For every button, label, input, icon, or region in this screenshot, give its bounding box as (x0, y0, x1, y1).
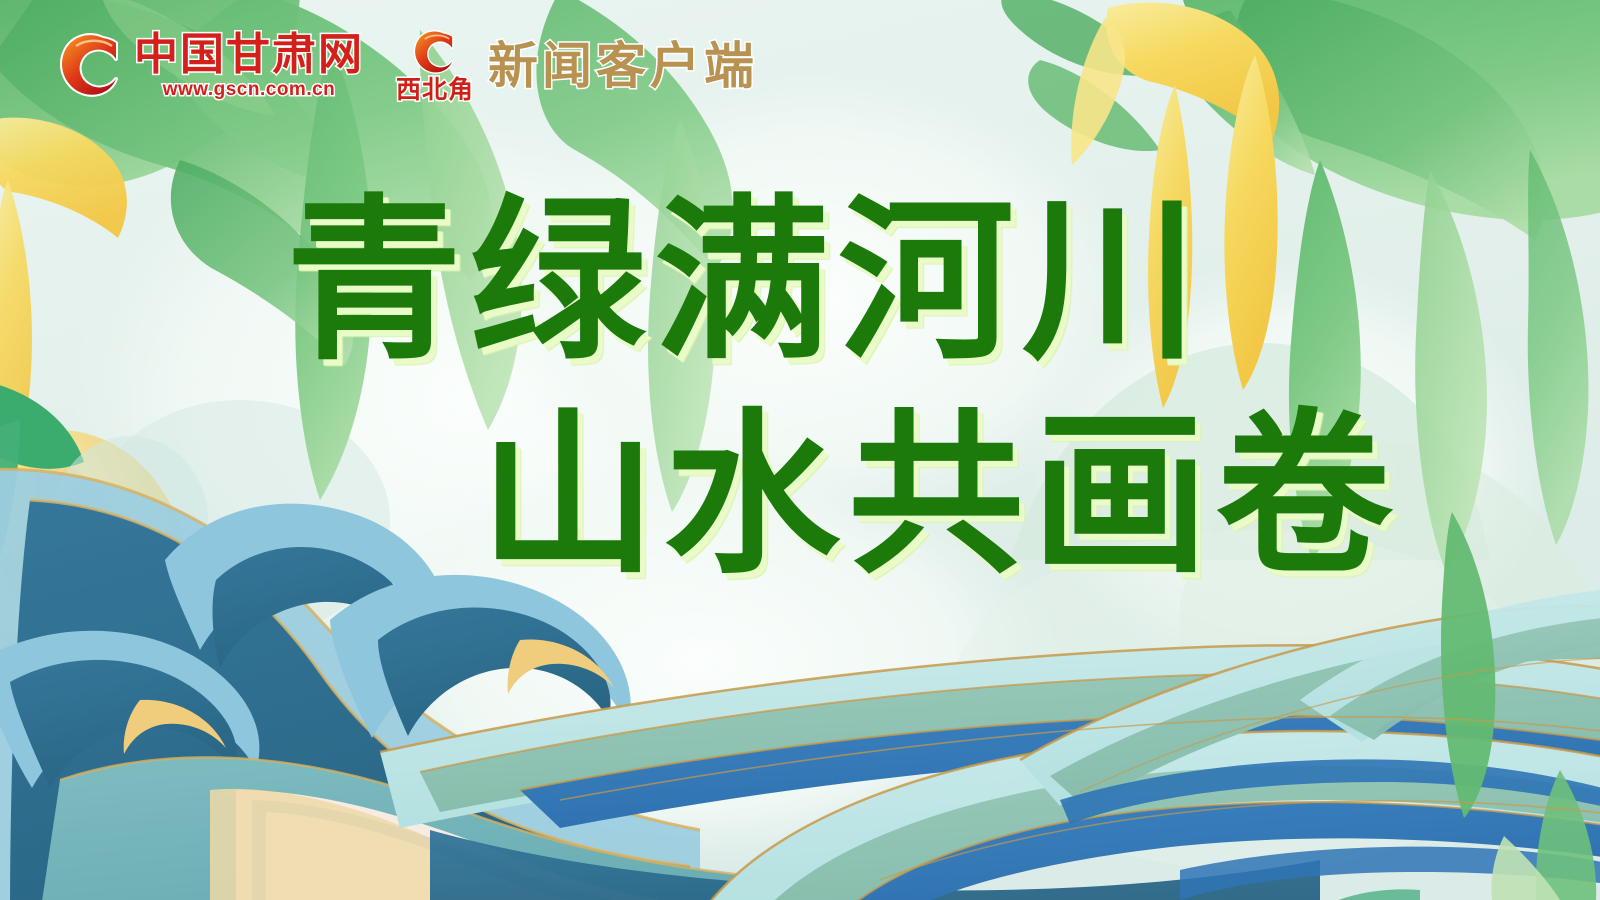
xibeijiao-name: 西北角 (396, 78, 474, 103)
gansu-net-url: www.gscn.com.cn (163, 80, 336, 99)
logo-bar: 中国甘肃网 www.gscn.com.cn (56, 28, 758, 103)
gansu-net-logo[interactable]: 中国甘肃网 www.gscn.com.cn (56, 29, 364, 103)
bottom-wave-decorations (0, 0, 1600, 900)
poster-canvas: 青绿满河川 山水共画卷 (0, 0, 1600, 900)
xibeijiao-logo[interactable]: 西北角 新闻客户端 (396, 28, 758, 103)
gansu-net-swirl-icon (56, 29, 126, 103)
gansu-net-name: 中国甘肃网 (134, 33, 364, 77)
xibeijiao-swirl-icon (411, 28, 459, 76)
client-label: 新闻客户端 (488, 41, 758, 91)
